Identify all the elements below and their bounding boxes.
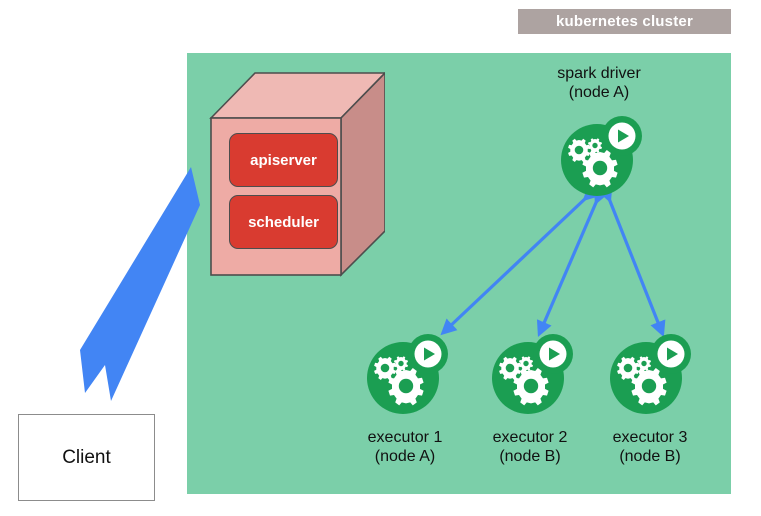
gears-play-node-icon xyxy=(362,332,448,418)
executor-2-subtitle: (node B) xyxy=(470,447,590,466)
gears-play-node-icon xyxy=(605,332,691,418)
gears-play-node-icon xyxy=(556,114,642,200)
executor-3-subtitle: (node B) xyxy=(590,447,710,466)
apiserver-component[interactable]: apiserver xyxy=(229,133,338,187)
executor-1-subtitle: (node A) xyxy=(345,447,465,466)
client-box[interactable]: Client xyxy=(18,414,155,501)
spark-submit-arrow xyxy=(58,165,218,405)
spark-driver-caption: spark driver (node A) xyxy=(519,64,679,102)
gears-play-node-icon xyxy=(487,332,573,418)
scheduler-component[interactable]: scheduler xyxy=(229,195,338,249)
spark-driver-node[interactable] xyxy=(556,114,642,200)
executor-3-caption: executor 3 (node B) xyxy=(590,428,710,466)
executor-3-title: executor 3 xyxy=(590,428,710,447)
executor-3-node[interactable] xyxy=(605,332,691,418)
diagram-canvas: kubernetes cluster apiserver scheduler s… xyxy=(0,0,761,516)
client-label: Client xyxy=(62,447,111,469)
executor-2-caption: executor 2 (node B) xyxy=(470,428,590,466)
executor-2-title: executor 2 xyxy=(470,428,590,447)
executor-2-node[interactable] xyxy=(487,332,573,418)
block-arrow-icon xyxy=(58,165,218,405)
spark-driver-title: spark driver xyxy=(519,64,679,83)
executor-1-node[interactable] xyxy=(362,332,448,418)
kubernetes-cluster-badge: kubernetes cluster xyxy=(518,9,731,34)
control-plane-cube: apiserver scheduler xyxy=(205,68,385,280)
executor-1-caption: executor 1 (node A) xyxy=(345,428,465,466)
spark-driver-subtitle: (node A) xyxy=(519,83,679,102)
executor-1-title: executor 1 xyxy=(345,428,465,447)
